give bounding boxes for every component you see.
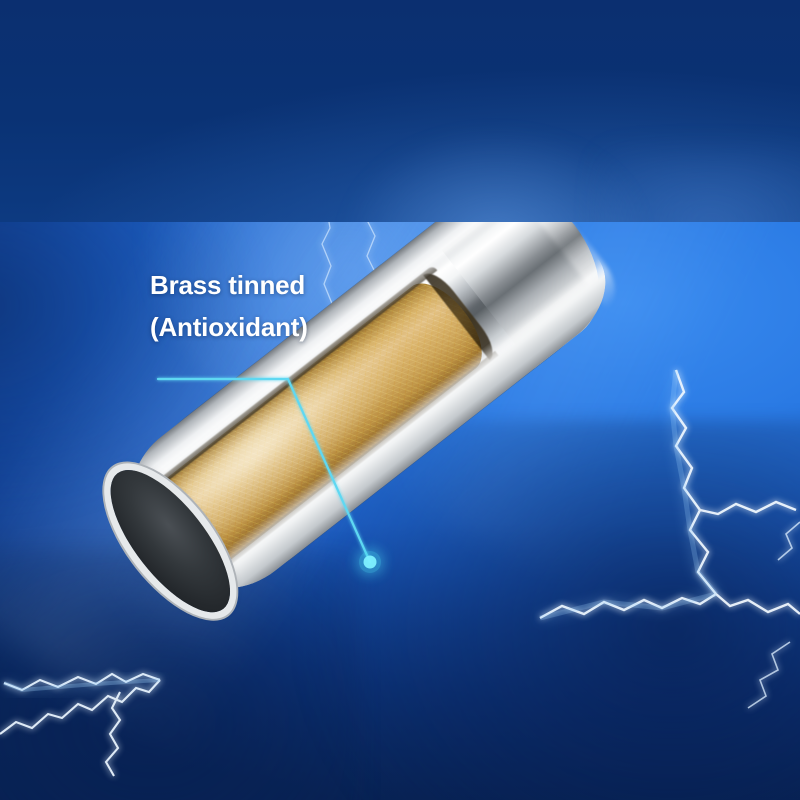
product-scene (0, 222, 800, 800)
lightning-bolts-front (0, 222, 800, 800)
callout-label-line-2: (Antioxidant) (150, 312, 308, 343)
header-light-sheen-secondary (600, 150, 800, 222)
product-banner: Brass terminal Good conductivity The ter… (0, 0, 800, 800)
callout-label-line-1: Brass tinned (150, 270, 305, 301)
header-band (0, 0, 800, 222)
